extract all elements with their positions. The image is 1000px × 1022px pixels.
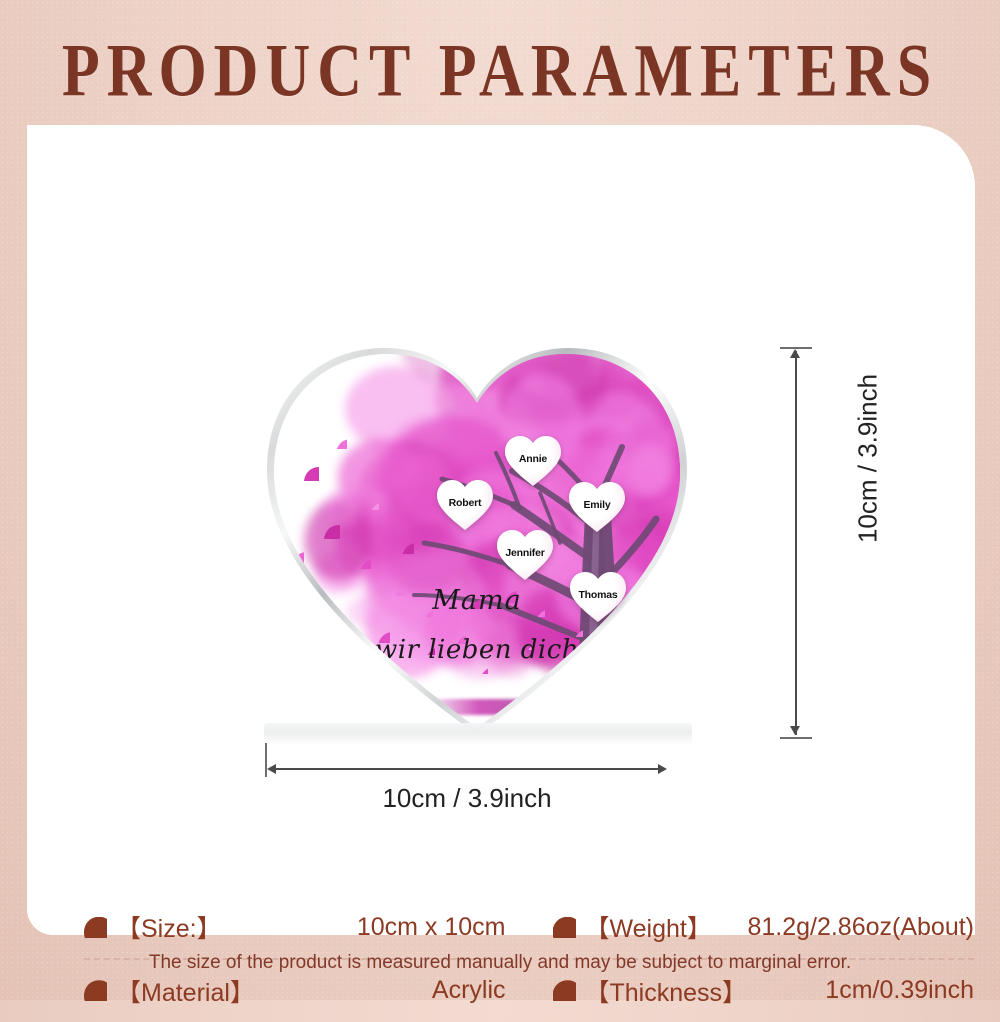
name-tag-jennifer[interactable]: Jennifer: [497, 530, 553, 580]
decor-heart-icon: [402, 543, 414, 554]
decor-heart-icon: [480, 667, 488, 674]
page-title: PRODUCT PARAMETERS: [0, 28, 1000, 115]
name-tag-label: Emily: [583, 499, 610, 511]
disclaimer-text: The size of the product is measured manu…: [0, 952, 1000, 974]
name-tag-emily[interactable]: Emily: [569, 482, 625, 532]
name-tag-annie[interactable]: Annie: [505, 436, 561, 486]
spec-value: 10cm x 10cm: [357, 913, 506, 942]
content-card: Mama wir lieben dich AnnieRobertEmilyJen…: [27, 125, 975, 935]
spec-row-size: 【Size:】 10cm x 10cm: [84, 897, 506, 960]
name-tag-label: Jennifer: [505, 547, 544, 559]
spec-key: 【Size:】: [116, 909, 222, 945]
name-tag-label: Robert: [449, 497, 482, 509]
decor-heart-icon: [324, 525, 340, 539]
spec-key: 【Material】: [116, 973, 255, 1009]
heart-icon: [553, 917, 576, 938]
name-tag-thomas[interactable]: Thomas: [570, 572, 626, 622]
ground-wash: [422, 699, 680, 715]
plaque-base-reflection: [264, 723, 692, 745]
spec-row-weight: 【Weight】 81.2g/2.86oz(About): [553, 897, 975, 960]
dimension-vertical-label: 10cm / 3.9inch: [853, 359, 884, 559]
decor-heart-icon: [300, 647, 311, 657]
decor-heart-icon: [370, 502, 379, 510]
name-tag-label: Thomas: [578, 589, 617, 601]
acrylic-face: Mama wir lieben dich: [274, 347, 680, 728]
heart-icon: [84, 917, 107, 938]
heart-icon: [553, 980, 576, 1001]
decor-heart-icon: [346, 647, 356, 656]
heart-icon: [84, 980, 107, 1001]
decor-heart-icon: [360, 559, 371, 569]
decor-heart-icon: [304, 467, 319, 481]
decor-heart-icon: [336, 439, 347, 449]
decor-heart-icon: [340, 683, 350, 692]
dimension-horizontal: 10cm / 3.9inch: [265, 761, 669, 821]
spec-key: 【Thickness】: [585, 973, 748, 1009]
spec-value: Acrylic: [432, 976, 506, 1005]
name-tag-robert[interactable]: Robert: [437, 480, 493, 530]
acrylic-heart-plaque: Mama wir lieben dich AnnieRobertEmilyJen…: [267, 340, 687, 735]
name-tag-label: Annie: [519, 453, 547, 465]
dimension-horizontal-label: 10cm / 3.9inch: [265, 783, 669, 814]
spec-value: 81.2g/2.86oz(About): [747, 913, 974, 942]
spec-key: 【Weight】: [585, 909, 712, 945]
dimension-vertical: 10cm / 3.9inch: [772, 347, 842, 739]
spec-value: 1cm/0.39inch: [825, 976, 974, 1005]
product-illustration: Mama wir lieben dich AnnieRobertEmilyJen…: [242, 320, 712, 765]
watercolor-tree-art: [274, 347, 680, 728]
message-line-2: wir lieben dich: [274, 635, 680, 665]
